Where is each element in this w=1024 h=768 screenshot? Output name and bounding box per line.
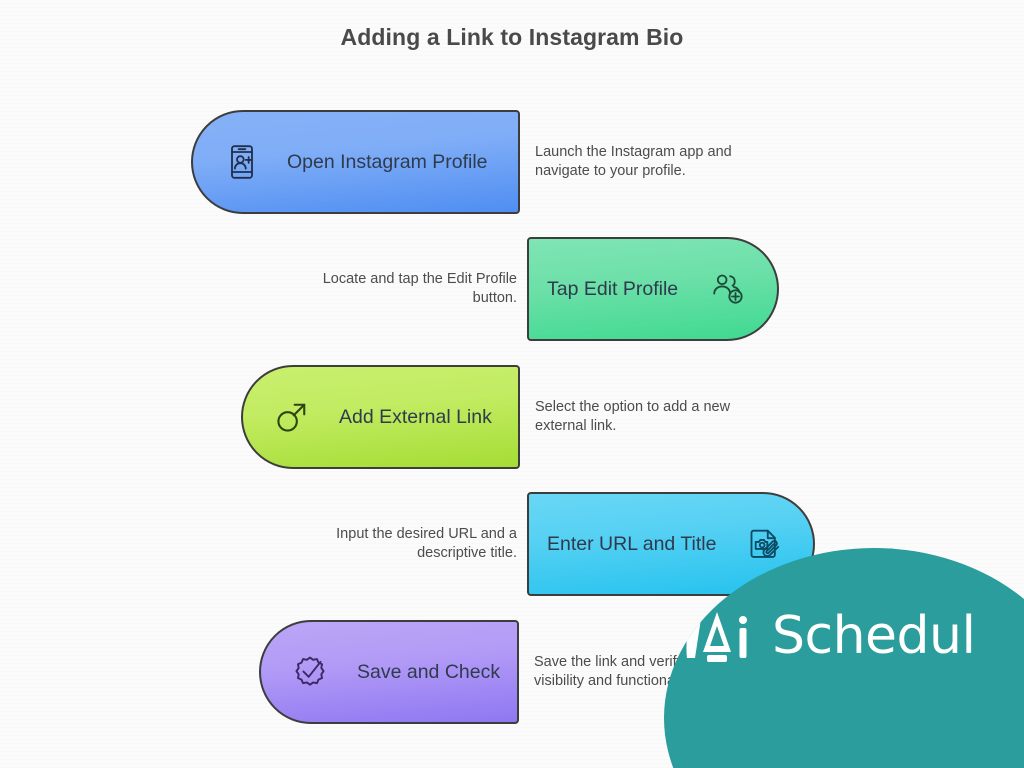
step-pill-tap-edit-profile[interactable]: Tap Edit Profile: [527, 237, 779, 341]
step-label-1: Open Instagram Profile: [287, 151, 488, 174]
brand-wordmark: Schedul: [772, 606, 975, 666]
step-description-1: Launch the Instagram app and navigate to…: [535, 143, 775, 181]
step-pill-add-external-link[interactable]: Add External Link: [241, 365, 520, 469]
brand-logo: Schedul: [682, 606, 975, 666]
gear-check-icon: [287, 649, 333, 695]
mobile-add-user-icon: [219, 139, 265, 185]
step-label-5: Save and Check: [357, 661, 500, 684]
ai-schedul-logo-mark: [682, 606, 766, 666]
step-pill-save-and-check[interactable]: Save and Check: [259, 620, 519, 724]
step-label-3: Add External Link: [339, 406, 492, 429]
step-row-1: Open Instagram Profile Launch the Instag…: [191, 110, 775, 214]
step-row-4: Input the desired URL and a descriptive …: [307, 492, 815, 596]
step-description-3: Select the option to add a new external …: [535, 398, 770, 436]
step-description-2: Locate and tap the Edit Profile button.: [292, 270, 517, 308]
add-users-icon: [705, 266, 751, 312]
infographic-canvas: Adding a Link to Instagram Bio Open Inst…: [0, 0, 1024, 768]
step-description-4: Input the desired URL and a descriptive …: [307, 525, 517, 563]
step-row-2: Locate and tap the Edit Profile button. …: [292, 237, 779, 341]
step-label-2: Tap Edit Profile: [547, 278, 678, 301]
step-pill-open-instagram-profile[interactable]: Open Instagram Profile: [191, 110, 520, 214]
step-row-3: Add External Link Select the option to a…: [241, 365, 770, 469]
step-label-4: Enter URL and Title: [547, 533, 716, 556]
page-title: Adding a Link to Instagram Bio: [0, 24, 1024, 51]
document-attachment-icon: [741, 521, 787, 567]
external-link-icon: [269, 394, 315, 440]
